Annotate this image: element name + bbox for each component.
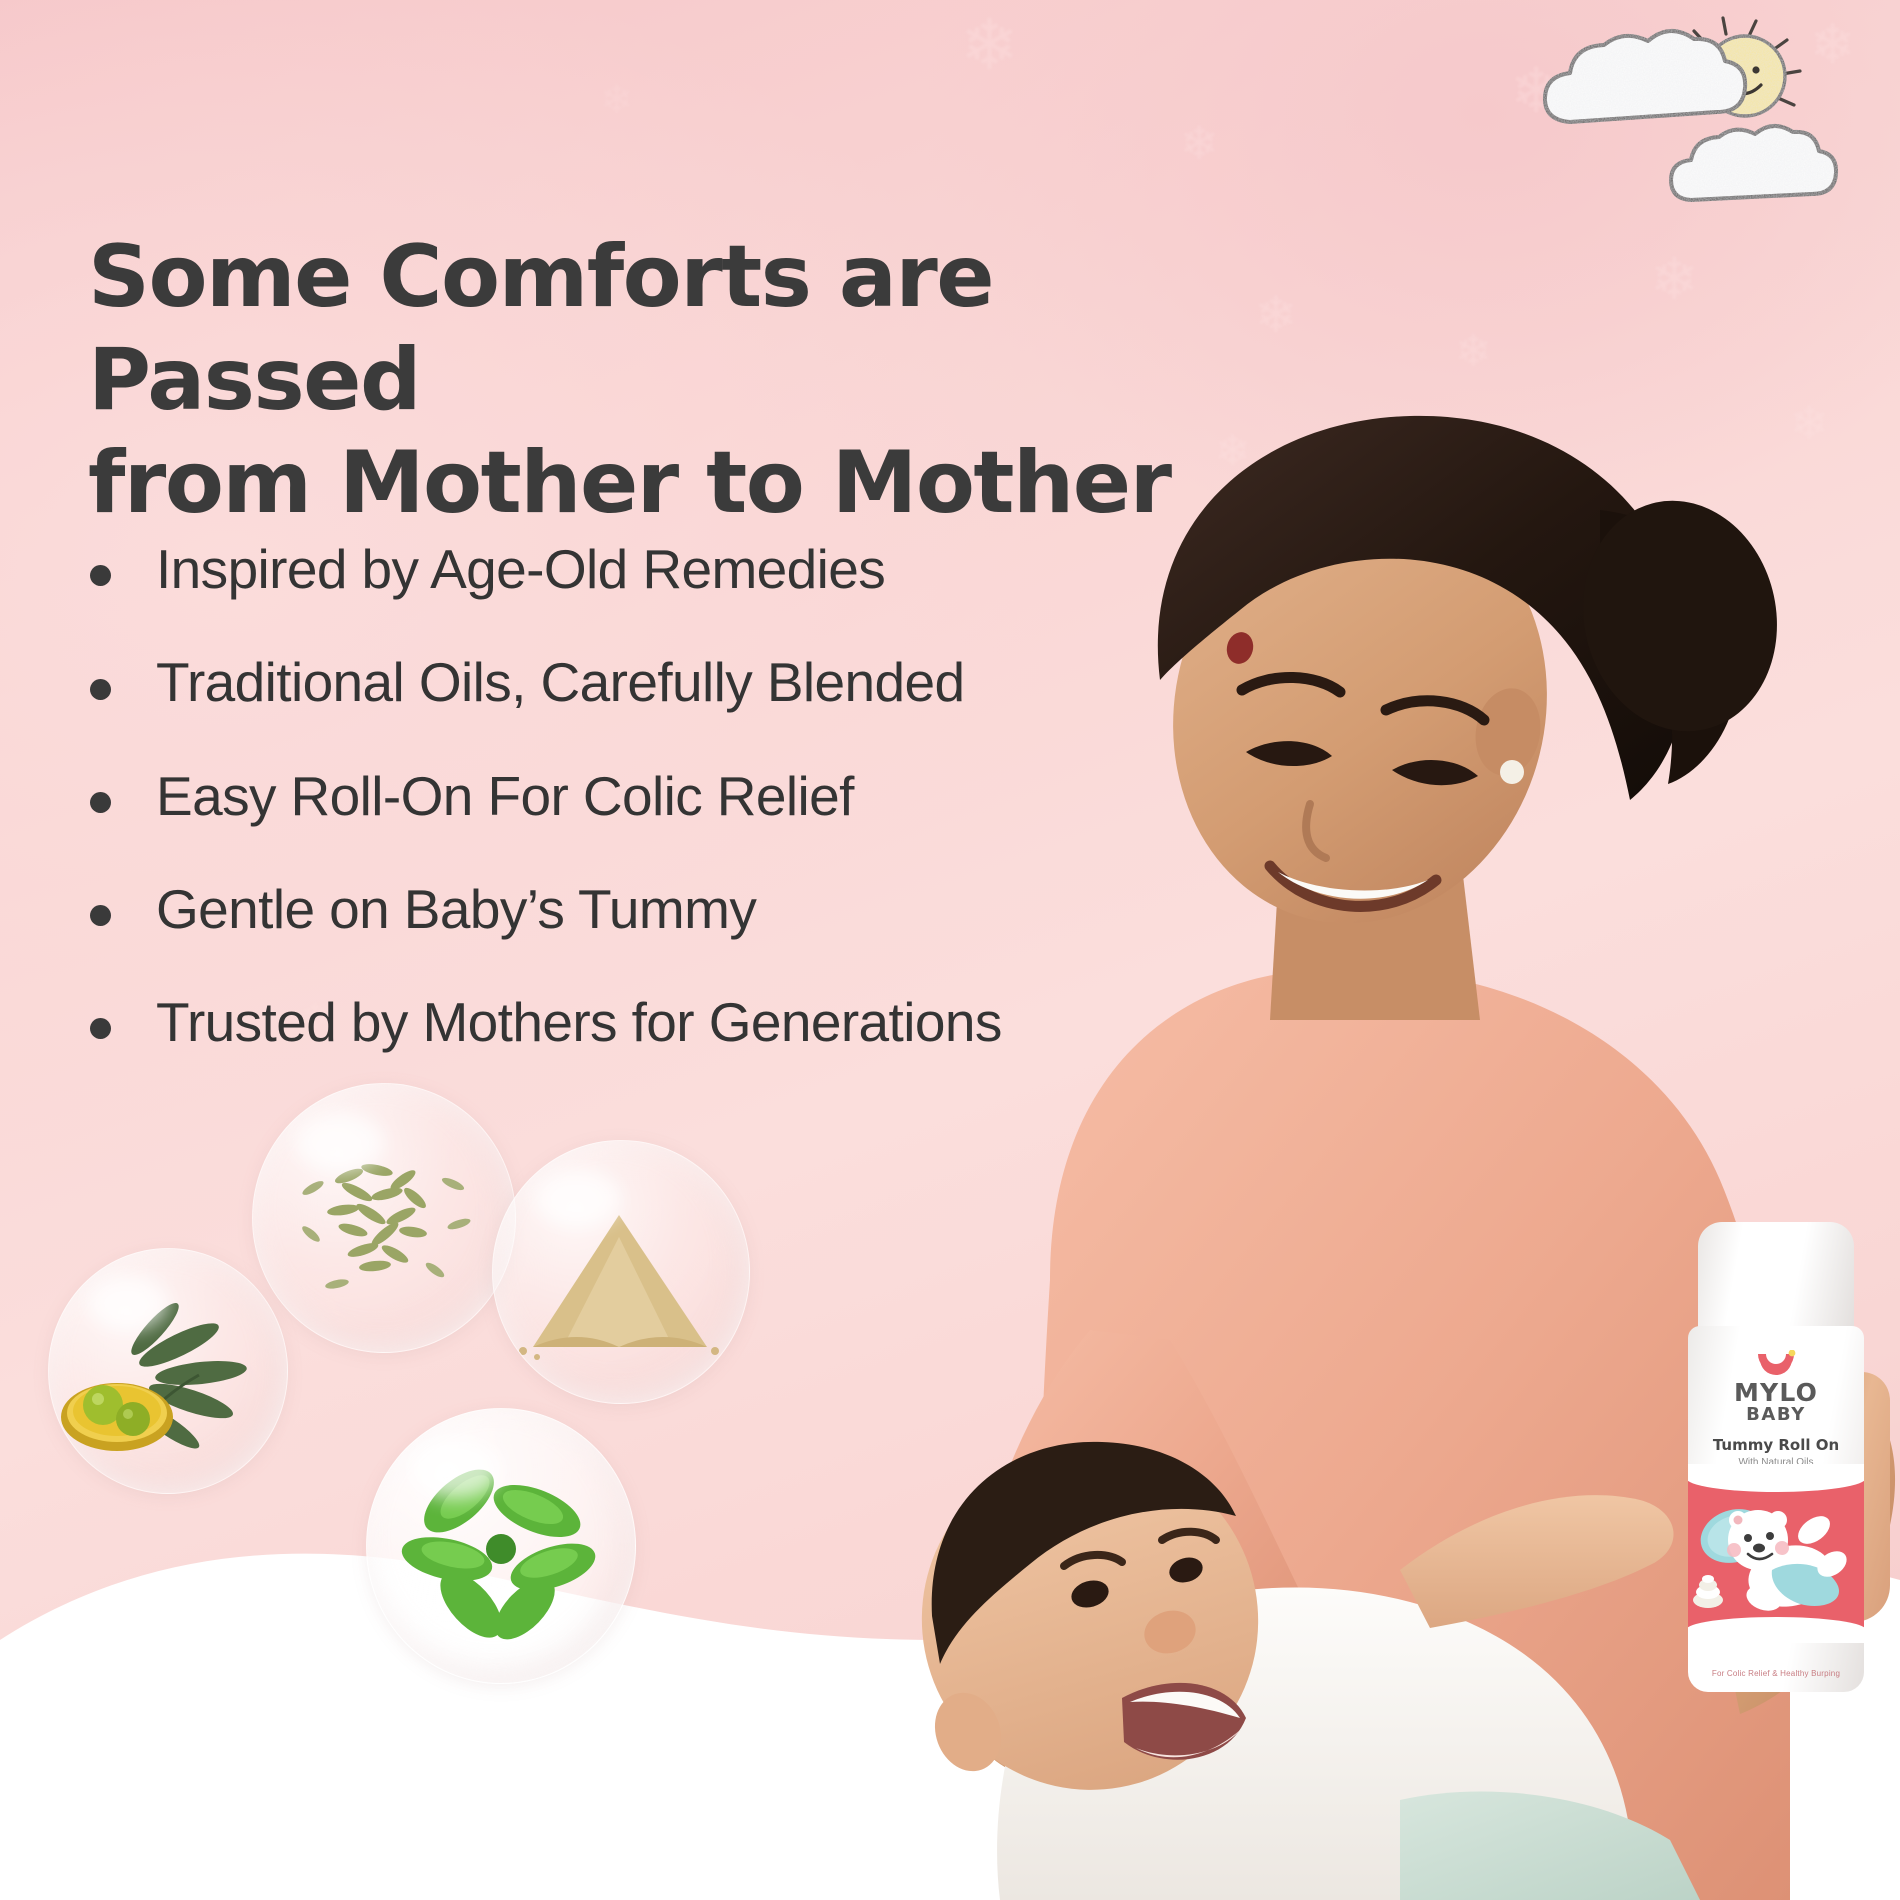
mint-leaves-icon — [367, 1409, 635, 1683]
mylo-logo-icon — [1752, 1350, 1800, 1376]
cloud-back-icon — [1545, 31, 1745, 122]
bottle-brand-name: MYLO — [1688, 1380, 1864, 1405]
bullet-dot-icon — [90, 565, 111, 586]
bottle-artwork-band — [1688, 1478, 1864, 1630]
bullet-label: Easy Roll-On For Colic Relief — [156, 765, 854, 827]
baby-bear-illustration — [1688, 1478, 1862, 1630]
bullet-dot-icon — [90, 792, 111, 813]
ingredient-bubble-mint — [366, 1408, 636, 1684]
bubble-highlight — [87, 1276, 168, 1330]
bullet-dot-icon — [90, 905, 111, 926]
bottle-body: MYLO BABY Tummy Roll On With Natural Oil… — [1688, 1326, 1864, 1692]
bottle-product-name: Tummy Roll On — [1688, 1438, 1864, 1453]
ingredient-bubble-fennel — [252, 1083, 516, 1353]
ingredient-bubble-olive — [48, 1248, 288, 1494]
bullet-dot-icon — [90, 679, 111, 700]
bullet-label: Gentle on Baby’s Tummy — [156, 878, 756, 940]
bottle-cap — [1698, 1222, 1854, 1340]
bottle-claim-text: For Colic Relief & Healthy Burping — [1688, 1670, 1864, 1678]
ginger-powder-icon — [493, 1141, 749, 1403]
promo-poster: ❄ ❄ ❄ ❄ ❄ ❄ ❄ ❄ ❄ ❄ ❄ ❄ — [0, 0, 1900, 1900]
bottle-brand-sub: BABY — [1688, 1406, 1864, 1424]
bubble-highlight — [410, 1439, 501, 1499]
product-bottle: MYLO BABY Tummy Roll On With Natural Oil… — [1688, 1222, 1864, 1692]
fennel-seeds-icon — [253, 1084, 515, 1352]
bullet-label: Inspired by Age-Old Remedies — [156, 538, 885, 600]
cloud-front-icon — [1671, 126, 1836, 200]
bubble-highlight — [295, 1113, 384, 1172]
earring — [1500, 760, 1524, 784]
bullet-dot-icon — [90, 1018, 111, 1039]
olive-oil-icon — [49, 1249, 287, 1493]
bubble-highlight — [534, 1170, 621, 1228]
cloud-sun-doodle — [1528, 4, 1858, 204]
ingredient-bubble-ginger — [492, 1140, 750, 1404]
